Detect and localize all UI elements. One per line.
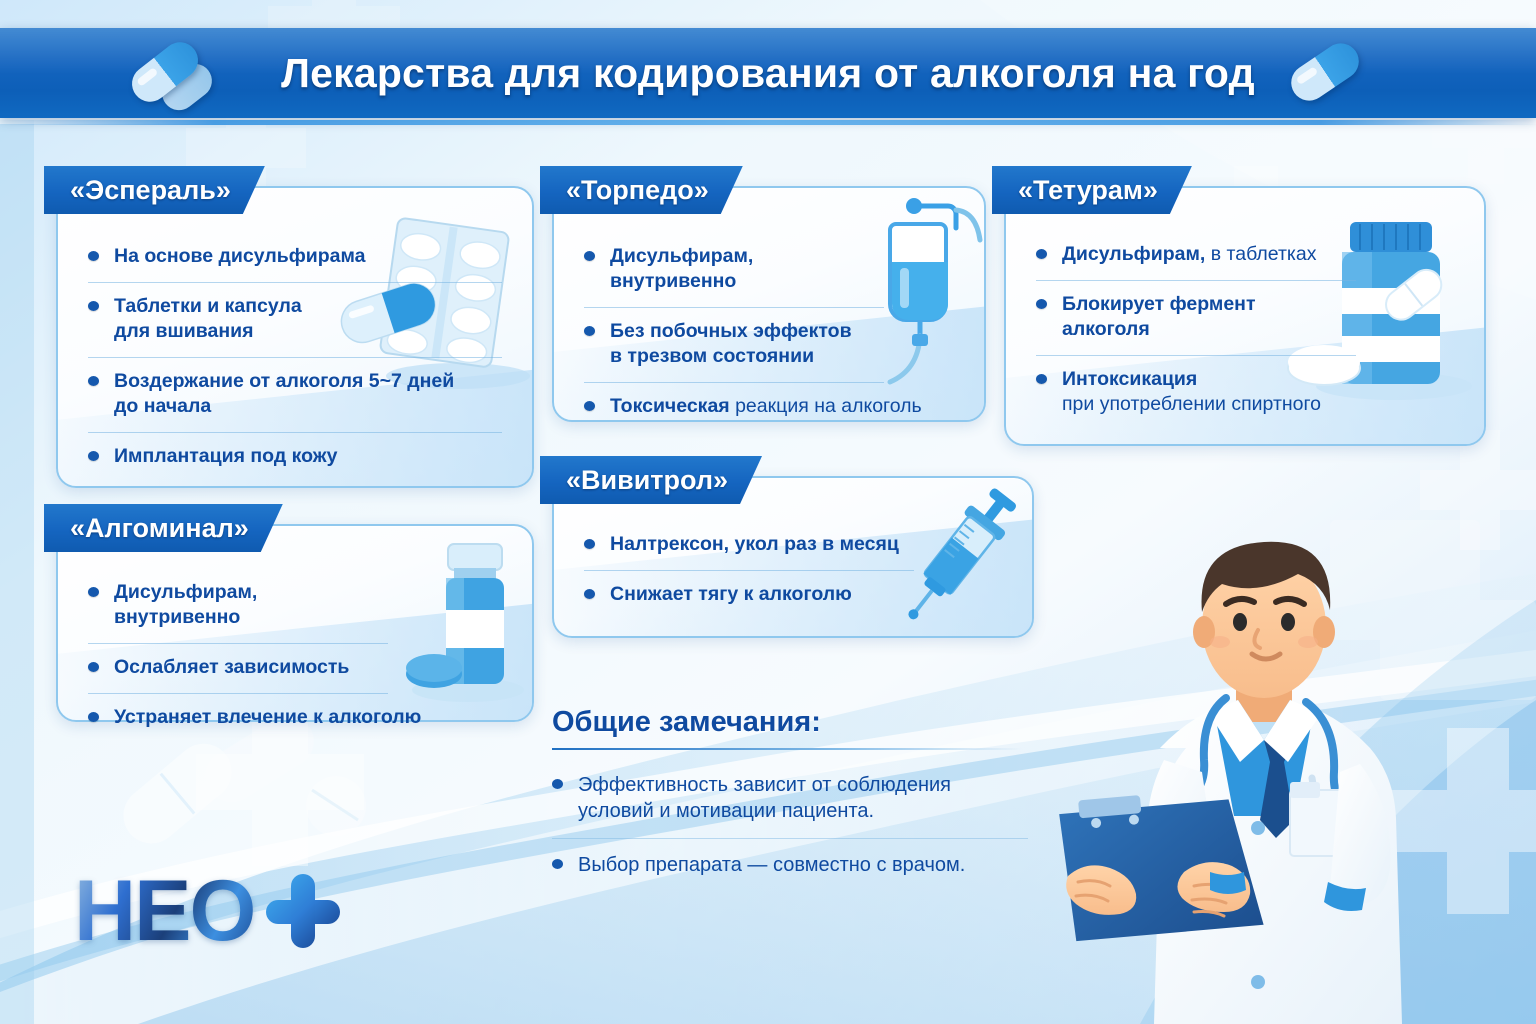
notes-items: Эффективность зависит от соблюдения усло…: [552, 772, 1052, 892]
notes-divider: [552, 748, 1022, 750]
bullet-icon: [584, 401, 595, 411]
list-item: Без побочных эффектовв трезвом состоянии: [584, 319, 884, 383]
bullet-icon: [1036, 374, 1047, 384]
infographic-poster: Лекарства для кодирования от алкоголя на…: [0, 0, 1536, 1024]
card-esperal: «Эспераль» На основе дисульфирама Таблет…: [56, 186, 534, 488]
general-notes-block: Общие замечания: Эффективность зависит о…: [552, 706, 1052, 905]
bullet-icon: [584, 539, 595, 549]
card-vivitrol: «Вивитрол» Налтрексон, укол раз в месяц …: [552, 476, 1034, 638]
list-item: На основе дисульфирама: [88, 244, 502, 283]
bullet-icon: [88, 712, 99, 722]
vial-bottle-icon: [388, 538, 528, 718]
logo: НЕО: [74, 868, 340, 954]
card-title-torpedo: «Торпедо»: [540, 166, 743, 214]
notes-title: Общие замечания:: [552, 706, 1052, 739]
list-item: Выбор препарата — совместно с врачом.: [552, 852, 1028, 892]
list-item: Токсическая реакция на алкоголь: [584, 394, 990, 419]
list-item: Воздержание от алкоголя 5~7 днейдо начал…: [88, 369, 502, 433]
bullet-icon: [88, 451, 99, 461]
plus-icon: [266, 874, 340, 948]
list-item: Таблетки и капсуладля вшивания: [88, 294, 502, 358]
bullet-icon: [552, 859, 563, 869]
page-title: Лекарства для кодирования от алкоголя на…: [0, 28, 1536, 118]
card-teturam: «Тетурам» Дисульфирам, в таблетках Блоки…: [1004, 186, 1486, 446]
list-item: Устраняет влечение к алкоголю: [88, 705, 474, 730]
card-title-vivitrol: «Вивитрол»: [540, 456, 762, 504]
list-item: Дисульфирам, внутривенно: [584, 244, 884, 308]
list-item: Налтрексон, укол раз в месяц: [584, 532, 914, 571]
bullet-icon: [1036, 299, 1047, 309]
doctor-with-clipboard-illustration: [1060, 520, 1530, 1024]
card-items-teturam: Дисульфирам, в таблетках Блокирует ферме…: [1036, 242, 1356, 417]
header-underline: [0, 120, 1536, 125]
list-item: Эффективность зависит от соблюдения усло…: [552, 772, 1028, 839]
bullet-icon: [88, 662, 99, 672]
card-items-esperal: На основе дисульфирама Таблетки и капсул…: [88, 244, 502, 469]
list-item: Имплантация под кожу: [88, 444, 502, 469]
card-torpedo: «Торпедо» Дисульфирам, внутривенно Без п…: [552, 186, 986, 422]
bullet-icon: [88, 587, 99, 597]
list-item: Дисульфирам, в таблетках: [1036, 242, 1356, 281]
bullet-icon: [584, 251, 595, 261]
card-title-teturam: «Тетурам»: [992, 166, 1192, 214]
bullet-icon: [1036, 249, 1047, 259]
bullet-icon: [88, 251, 99, 261]
list-item: Блокирует ферменталкоголя: [1036, 292, 1356, 356]
card-items-algominal: Дисульфирам, внутривенно Ослабляет завис…: [88, 580, 388, 730]
card-items-torpedo: Дисульфирам, внутривенно Без побочных эф…: [584, 244, 884, 419]
list-item: Интоксикацияпри употреблении спиртного: [1036, 367, 1412, 417]
bullet-icon: [552, 779, 563, 789]
card-items-vivitrol: Налтрексон, укол раз в месяц Снижает тяг…: [584, 532, 914, 607]
bullet-icon: [88, 301, 99, 311]
card-algominal: «Алгоминал» Дисульфирам, внутривенно Осл…: [56, 524, 534, 722]
logo-text: НЕО: [74, 868, 254, 954]
list-item: Снижает тягу к алкоголю: [584, 582, 914, 607]
bullet-icon: [584, 326, 595, 336]
list-item: Ослабляет зависимость: [88, 655, 388, 694]
bullet-icon: [88, 376, 99, 386]
card-title-algominal: «Алгоминал»: [44, 504, 283, 552]
card-title-esperal: «Эспераль»: [44, 166, 265, 214]
list-item: Дисульфирам, внутривенно: [88, 580, 388, 644]
bullet-icon: [584, 589, 595, 599]
